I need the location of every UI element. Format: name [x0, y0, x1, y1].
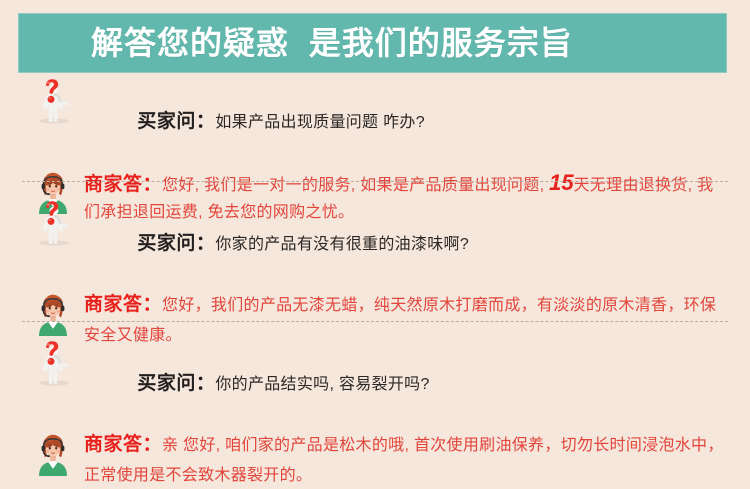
- question-label: 买家问：: [137, 233, 215, 254]
- question-text: 如果产品出现质量问题 咋办?: [215, 114, 425, 131]
- question-label: 买家问：: [137, 111, 215, 132]
- question-icon-cell: [22, 200, 84, 247]
- faq-answer-row: 商家答：亲 您好, 咱们家的产品是松木的哦, 首次使用刷油保养，切勿长时间浸泡水…: [22, 429, 728, 489]
- faq-item: 买家问：你家的产品有没有很重的油漆味啊?: [0, 182, 750, 322]
- question-icon-cell: [22, 78, 84, 125]
- faq-question-row: 买家问：你家的产品有没有很重的油漆味啊?: [22, 200, 728, 287]
- faq-question-row: 买家问：你的产品结实吗, 容易裂开吗?: [22, 340, 728, 427]
- question-icon-cell: [22, 340, 84, 387]
- faq-page: 解答您的疑惑 是我们的服务宗旨: [0, 0, 750, 428]
- faq-question-row: 买家问：如果产品出现质量问题 咋办?: [22, 78, 728, 165]
- question-text-cell: 买家问：你的产品结实吗, 容易裂开吗?: [84, 340, 728, 427]
- faq-list: 买家问：如果产品出现质量问题 咋办?: [0, 78, 750, 462]
- faq-item: 买家问：如果产品出现质量问题 咋办?: [0, 78, 750, 182]
- answer-text-cell: 商家答：亲 您好, 咱们家的产品是松木的哦, 首次使用刷油保养，切勿长时间浸泡水…: [84, 429, 728, 489]
- question-text: 你的产品结实吗, 容易裂开吗?: [215, 376, 429, 393]
- question-mark-person-icon: [30, 79, 76, 125]
- question-text: 你家的产品有没有很重的油漆味啊?: [215, 236, 469, 253]
- faq-item: 买家问：你的产品结实吗, 容易裂开吗?: [0, 322, 750, 462]
- question-mark-person-icon: [30, 341, 76, 387]
- customer-service-agent-icon: [30, 430, 76, 476]
- answer-label: 商家答：: [84, 434, 162, 455]
- answer-icon-cell: [22, 429, 84, 476]
- header-banner: 解答您的疑惑 是我们的服务宗旨: [18, 13, 727, 73]
- page-title: 解答您的疑惑 是我们的服务宗旨: [91, 27, 573, 59]
- answer-label: 商家答：: [84, 294, 162, 315]
- question-text-cell: 买家问：如果产品出现质量问题 咋办?: [84, 78, 728, 165]
- question-text-cell: 买家问：你家的产品有没有很重的油漆味啊?: [84, 200, 728, 287]
- question-label: 买家问：: [137, 373, 215, 394]
- answer-text-part1: 亲 您好, 咱们家的产品是松木的哦, 首次使用刷油保养，切勿长时间浸泡水中，正常…: [84, 437, 724, 484]
- question-mark-person-icon: [30, 201, 76, 247]
